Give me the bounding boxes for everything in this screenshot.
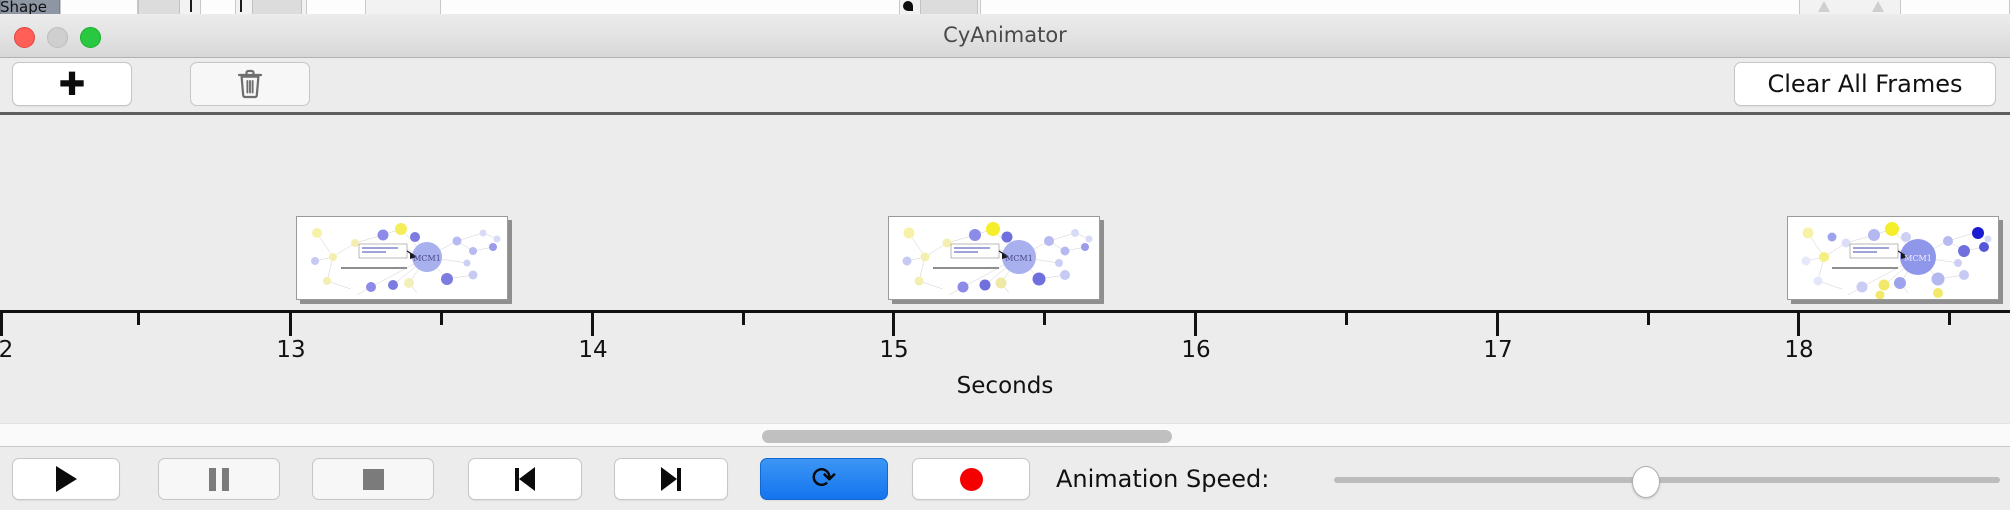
axis-tick-label: 2 (0, 337, 13, 363)
axis-tick-label: 18 (1784, 337, 1813, 363)
frame-thumbnail-2[interactable]: MCM1 (888, 216, 1100, 300)
clear-all-frames-button[interactable]: Clear All Frames (1734, 62, 1996, 106)
svg-text:MCM1: MCM1 (413, 254, 441, 263)
animation-speed-slider-thumb[interactable] (1632, 466, 1660, 498)
trash-icon (237, 69, 263, 99)
axis-tick-major (591, 312, 594, 336)
bg-tick (190, 0, 192, 12)
frame-thumbnail-3[interactable]: MCM1 (1787, 216, 1999, 300)
play-icon (56, 466, 77, 492)
background-window-strip: Shape (0, 0, 2010, 15)
bg-seg (60, 0, 138, 14)
skip-to-start-button[interactable] (468, 458, 582, 500)
plus-icon: ✚ (59, 68, 86, 100)
pause-button[interactable] (158, 458, 280, 500)
frame-thumbnail-1[interactable]: MCM1 (296, 216, 508, 300)
bg-seg (252, 0, 302, 14)
axis-tick-label: 13 (276, 337, 305, 363)
axis-title: Seconds (0, 373, 2010, 399)
axis-tick-minor (440, 312, 443, 325)
axis-tick-major (0, 312, 3, 336)
timeline-axis-line (0, 310, 2010, 313)
bg-marker (903, 1, 913, 11)
skip-start-icon (515, 467, 535, 491)
bg-seg (440, 0, 900, 14)
bg-arrow (1872, 1, 1884, 12)
svg-text:MCM1: MCM1 (1904, 254, 1932, 263)
bg-seg (306, 0, 366, 14)
axis-tick-label: 15 (879, 337, 908, 363)
svg-text:MCM1: MCM1 (1005, 254, 1033, 263)
axis-tick-minor (742, 312, 745, 325)
delete-frame-button[interactable] (190, 62, 310, 106)
pause-icon (209, 468, 229, 491)
axis-tick-major (1194, 312, 1197, 336)
axis-tick-minor (1043, 312, 1046, 325)
bg-arrow (1818, 1, 1830, 12)
axis-tick-minor (1948, 312, 1951, 325)
axis-tick-major (892, 312, 895, 336)
axis-tick-label: 16 (1181, 337, 1210, 363)
axis-tick-minor (1345, 312, 1348, 325)
bg-seg (920, 0, 978, 14)
axis-tick-major (1797, 312, 1800, 336)
title-bar[interactable]: CyAnimator (0, 14, 2010, 58)
record-icon (960, 468, 983, 491)
axis-tick-major (1496, 312, 1499, 336)
stop-button[interactable] (312, 458, 434, 500)
play-button[interactable] (12, 458, 120, 500)
axis-tick-minor (1647, 312, 1650, 325)
window-title: CyAnimator (0, 14, 2010, 57)
bg-seg (1900, 0, 2010, 14)
animation-speed-label: Animation Speed: (1056, 458, 1269, 500)
loop-button[interactable]: ⟳ (760, 458, 888, 500)
background-shape-label: Shape (0, 0, 47, 15)
bg-seg (980, 0, 1800, 14)
stop-icon (363, 469, 384, 490)
timeline-panel[interactable]: MCM1 (0, 115, 2010, 423)
transport-bar: ⟳ Animation Speed: (0, 447, 2010, 510)
bg-seg (200, 0, 236, 14)
animation-speed-slider-track[interactable] (1334, 477, 2000, 483)
bg-seg (138, 0, 180, 14)
bg-tick (240, 0, 242, 12)
loop-icon: ⟳ (811, 464, 836, 494)
skip-to-end-button[interactable] (614, 458, 728, 500)
scrollbar-thumb[interactable] (762, 430, 1172, 443)
axis-tick-minor (137, 312, 140, 325)
timeline-horizontal-scrollbar[interactable] (0, 423, 2010, 447)
record-button[interactable] (912, 458, 1030, 500)
frame-toolbar: ✚ Clear All Frames (0, 58, 2010, 112)
clear-all-frames-label: Clear All Frames (1767, 70, 1962, 98)
axis-tick-label: 14 (578, 337, 607, 363)
add-frame-button[interactable]: ✚ (12, 62, 132, 106)
cyanimator-window: Shape CyAnimator ✚ (0, 0, 2010, 510)
axis-tick-major (289, 312, 292, 336)
axis-tick-label: 17 (1483, 337, 1512, 363)
skip-end-icon (661, 467, 681, 491)
